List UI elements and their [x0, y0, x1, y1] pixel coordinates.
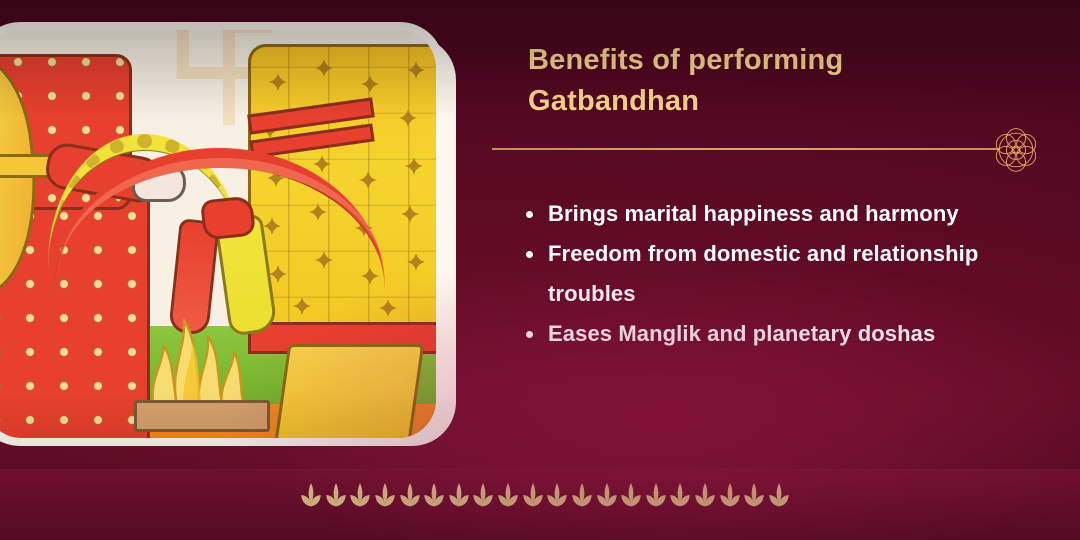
- fire-altar: [134, 400, 270, 432]
- bottom-decorative-strip: [0, 469, 1080, 540]
- page-title-line-2: Gatbandhan: [528, 85, 699, 117]
- three-petal-leaf-motif-icon: [571, 482, 593, 522]
- three-petal-leaf-motif-icon: [546, 482, 568, 522]
- page-title-line-1: Benefits of performing: [528, 44, 843, 76]
- three-petal-leaf-motif-icon: [522, 482, 544, 522]
- three-petal-leaf-motif-icon: [374, 482, 396, 522]
- slide-root: Benefits of performing Gatbandhan Brings…: [0, 0, 1080, 540]
- rosette-mandala-icon: [988, 122, 1044, 178]
- motif-row: [300, 482, 790, 528]
- three-petal-leaf-motif-icon: [325, 482, 347, 522]
- three-petal-leaf-motif-icon: [645, 482, 667, 522]
- three-petal-leaf-motif-icon: [300, 482, 322, 522]
- groom-leg: [272, 344, 425, 438]
- three-petal-leaf-motif-icon: [669, 482, 691, 522]
- page-title: Benefits of performing Gatbandhan: [528, 40, 958, 122]
- three-petal-leaf-motif-icon: [768, 482, 790, 522]
- gatbandhan-ceremony-illustration: [0, 30, 436, 438]
- gatbandhan-knot: [200, 195, 256, 240]
- illustration-clip: [0, 30, 436, 438]
- content-panel: Benefits of performing Gatbandhan Brings…: [492, 0, 1080, 540]
- list-item: Brings marital happiness and harmony: [518, 194, 1058, 234]
- list-item: Eases Manglik and planetary doshas: [518, 314, 1058, 354]
- three-petal-leaf-motif-icon: [472, 482, 494, 522]
- three-petal-leaf-motif-icon: [694, 482, 716, 522]
- divider-line: [492, 148, 1000, 150]
- three-petal-leaf-motif-icon: [423, 482, 445, 522]
- illustration-card: [0, 22, 476, 446]
- three-petal-leaf-motif-icon: [719, 482, 741, 522]
- illustration-card-frame: [0, 22, 444, 446]
- three-petal-leaf-motif-icon: [399, 482, 421, 522]
- three-petal-leaf-motif-icon: [596, 482, 618, 522]
- three-petal-leaf-motif-icon: [620, 482, 642, 522]
- three-petal-leaf-motif-icon: [743, 482, 765, 522]
- benefits-list: Brings marital happiness and harmony Fre…: [518, 194, 1058, 354]
- three-petal-leaf-motif-icon: [497, 482, 519, 522]
- three-petal-leaf-motif-icon: [448, 482, 470, 522]
- list-item: Freedom from domestic and relationship t…: [518, 234, 1058, 314]
- sacred-fire-icon: [134, 284, 264, 410]
- three-petal-leaf-motif-icon: [349, 482, 371, 522]
